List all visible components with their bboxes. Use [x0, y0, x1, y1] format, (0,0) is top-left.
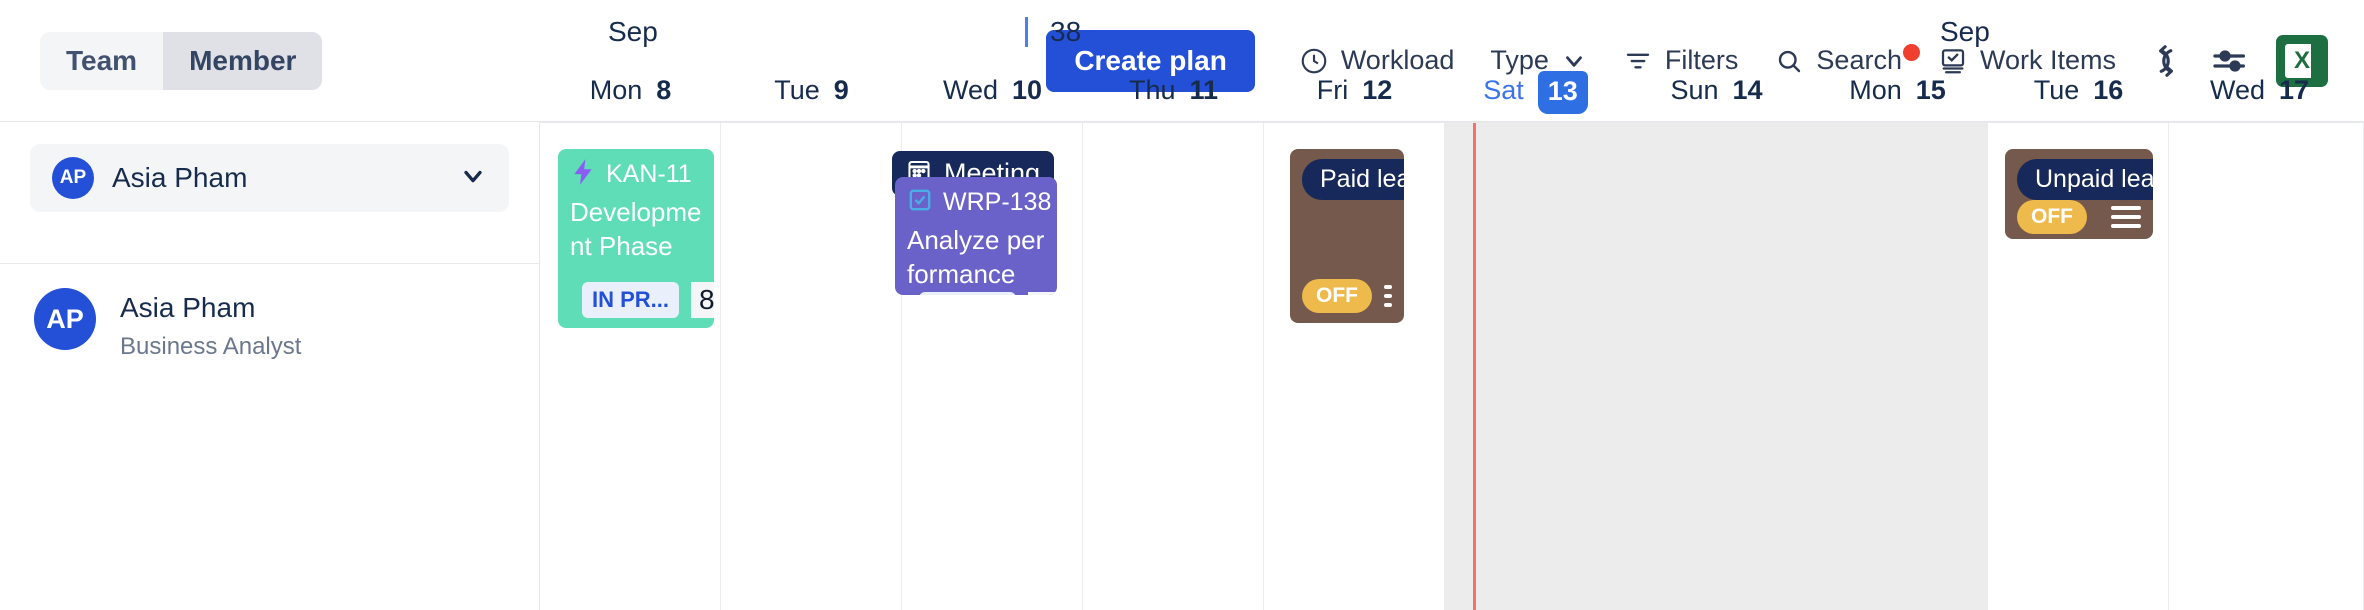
member-info: Asia Pham Business Analyst [120, 288, 301, 361]
hamburger-icon[interactable] [2111, 206, 2141, 228]
status-badge: IN PR... [919, 292, 1016, 295]
card-header: WRP-138 [907, 187, 1045, 218]
member-row[interactable]: AP Asia Pham Business Analyst [0, 264, 540, 361]
card-footer: OFF [1302, 279, 1392, 313]
day-name: Tue [774, 75, 820, 106]
day-number: 13 [1538, 71, 1588, 114]
off-badge: OFF [1302, 279, 1372, 313]
day-name: Wed [2210, 75, 2265, 106]
month-label-left: Sep [608, 16, 658, 48]
day-header-fri-12[interactable]: Fri 12 [1264, 58, 1445, 122]
day-name: Fri [1317, 75, 1348, 106]
member-role: Business Analyst [120, 333, 301, 361]
card-summary: Development Phase [570, 196, 702, 264]
calendar-header: Sep 38 Sep Mon 8 Tue 9 Wed 10 Thu 11 [540, 0, 2364, 122]
day-name: Sat [1483, 75, 1524, 106]
week-divider-icon [1025, 17, 1028, 47]
task-check-icon [907, 187, 933, 218]
leave-card-unpaid[interactable]: Unpaid leave OFF [2005, 149, 2153, 239]
avatar: AP [52, 157, 94, 199]
day-header-thu-11[interactable]: Thu 11 [1083, 58, 1264, 122]
day-number: 11 [1189, 75, 1218, 106]
day-number: 16 [2093, 75, 2123, 106]
card-footer: IN PR... 8h [570, 282, 702, 318]
day-number: 14 [1733, 75, 1763, 106]
day-header-wed-17[interactable]: Wed 17 [2169, 58, 2350, 122]
card-key: KAN-11 [606, 160, 692, 189]
day-name: Mon [1849, 75, 1902, 106]
leave-card-paid[interactable]: Paid leave OFF [1290, 149, 1404, 323]
segment-member[interactable]: Member [163, 32, 322, 90]
person-selector-name: Asia Pham [112, 162, 247, 194]
card-header: KAN-11 [570, 159, 702, 190]
estimate-hours: 8h [691, 282, 714, 318]
day-number: 10 [1012, 75, 1042, 106]
card-footer: IN PR... 5h [907, 292, 1045, 295]
off-badge: OFF [2017, 200, 2087, 234]
epic-bolt-icon [570, 159, 596, 190]
avatar: AP [34, 288, 96, 350]
current-time-indicator [1473, 123, 1476, 610]
day-header-row: Mon 8 Tue 9 Wed 10 Thu 11 Fri 12 Sat 13 [540, 58, 2364, 122]
member-name: Asia Pham [120, 290, 301, 325]
day-name: Wed [943, 75, 998, 106]
day-column-tue-9[interactable] [721, 123, 902, 610]
day-number: 15 [1916, 75, 1946, 106]
unpaid-leave-badge: Unpaid leave [2017, 159, 2153, 200]
absence-dot-icon [1903, 44, 1920, 61]
hamburger-icon[interactable] [1384, 285, 1392, 307]
day-column-wed-17[interactable] [2169, 123, 2364, 610]
person-selector[interactable]: AP Asia Pham [30, 144, 509, 212]
day-number: 12 [1362, 75, 1392, 106]
day-number: 9 [834, 75, 849, 106]
day-header-sat-13[interactable]: Sat 13 [1445, 58, 1626, 122]
segment-team[interactable]: Team [40, 32, 163, 90]
day-number: 8 [656, 75, 671, 106]
month-row: Sep 38 Sep [540, 0, 2364, 58]
day-number: 17 [2279, 75, 2309, 106]
task-card-wrp-138[interactable]: WRP-138 Analyze per formance IN PR... 5h [895, 177, 1057, 295]
task-card-kan-11[interactable]: KAN-11 Development Phase IN PR... 8h [558, 149, 714, 328]
day-header-sun-14[interactable]: Sun 14 [1626, 58, 1807, 122]
week-number-label: 38 [1050, 16, 1081, 48]
day-column-thu-11[interactable] [1083, 123, 1264, 610]
member-sidebar: AP Asia Pham AP Asia Pham Business Analy… [0, 122, 540, 610]
day-name: Tue [2034, 75, 2080, 106]
day-name: Thu [1129, 75, 1176, 106]
calendar-grid: KAN-11 Development Phase IN PR... 8h [540, 122, 2364, 610]
view-mode-toggle[interactable]: Team Member [40, 32, 322, 90]
day-header-mon-8[interactable]: Mon 8 [540, 58, 721, 122]
day-name: Sun [1670, 75, 1718, 106]
week-number: 38 [1025, 16, 1081, 48]
card-key: WRP-138 [943, 188, 1051, 217]
day-column-sun-14[interactable] [1626, 123, 1807, 610]
day-header-wed-10[interactable]: Wed 10 [902, 58, 1083, 122]
day-header-mon-15[interactable]: Mon 15 [1807, 58, 1988, 122]
card-footer: OFF [2017, 200, 2141, 234]
month-label-right: Sep [1940, 16, 1990, 48]
status-badge: IN PR... [582, 282, 679, 318]
card-summary: Analyze per formance [907, 224, 1045, 292]
calendar-timeline: Sep 38 Sep Mon 8 Tue 9 Wed 10 Thu 11 [540, 0, 2364, 610]
paid-leave-badge: Paid leave [1302, 159, 1404, 200]
chevron-down-icon [459, 162, 487, 195]
day-header-tue-16[interactable]: Tue 16 [1988, 58, 2169, 122]
day-column-mon-15[interactable] [1807, 123, 1988, 610]
day-name: Mon [590, 75, 643, 106]
day-header-tue-9[interactable]: Tue 9 [721, 58, 902, 122]
